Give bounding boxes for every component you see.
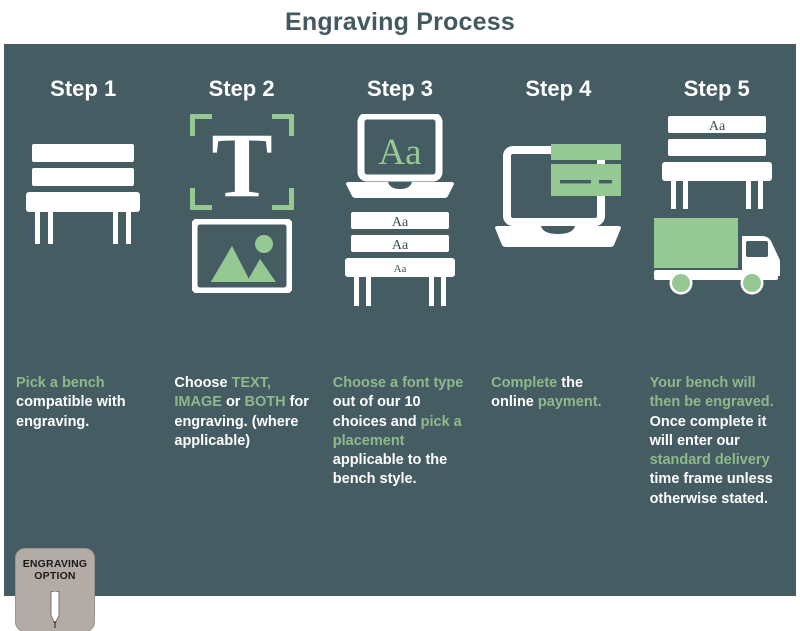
step-icons-4: [479, 114, 637, 364]
text-selection-icon: T: [190, 114, 294, 210]
desc-part-white: compatible with engraving.: [16, 394, 126, 429]
step-description-3: Choose a font type out of our 10 choices…: [333, 374, 471, 490]
step-description-4: Complete the online payment.: [491, 374, 629, 413]
step-column-1: Step 1: [4, 44, 162, 596]
badge-line-1: ENGRAVING: [16, 558, 94, 570]
step-column-5: Step 5: [638, 44, 796, 596]
step-description-1: Pick a bench compatible with engraving.: [16, 374, 154, 432]
step-column-2: Step 2 T: [162, 44, 320, 596]
steps-columns: Step 1: [4, 44, 796, 596]
bench-engraved-icon: Aa: [655, 114, 779, 210]
desc-part-green: Complete: [491, 375, 561, 391]
delivery-truck-icon: [650, 214, 784, 300]
step-heading-2: Step 2: [162, 76, 320, 106]
steps-panel: Step 1: [4, 44, 796, 596]
desc-part-green: Choose a font type: [333, 375, 464, 391]
desc-part-white: or: [226, 394, 245, 410]
step-column-4: Step 4 Complete: [479, 44, 637, 596]
step-description-2: Choose TEXT, IMAGE or BOTH for engraving…: [174, 374, 312, 451]
step-icons-2: T: [162, 114, 320, 364]
infographic-page: Engraving Process Step 1: [0, 0, 800, 600]
bench-icon: [18, 142, 148, 247]
step-description-5: Your bench will then be engraved. Once c…: [650, 374, 788, 509]
laptop-screen-text: Aa: [378, 132, 421, 173]
step-heading-5: Step 5: [638, 76, 796, 106]
engraving-tool-icon: [46, 591, 64, 629]
page-title-bar: Engraving Process: [0, 0, 800, 44]
step-icons-1: [4, 114, 162, 364]
text-icon-letter: T: [211, 114, 272, 210]
bench-seat-text: Aa: [394, 263, 407, 275]
desc-part-green: payment.: [538, 394, 602, 410]
desc-part-white: time frame unless otherwise stated.: [650, 471, 773, 506]
step-heading-4: Step 4: [479, 76, 637, 106]
desc-part-green: Your bench will then be engraved.: [650, 375, 774, 410]
page-title: Engraving Process: [285, 8, 515, 37]
laptop-font-icon: Aa: [344, 114, 456, 200]
desc-part-white: Once complete it will enter our: [650, 414, 767, 449]
desc-part-green: BOTH: [244, 394, 289, 410]
desc-part-white: Choose: [174, 375, 231, 391]
image-placeholder-icon: [192, 219, 292, 293]
step-column-3: Step 3 Aa: [321, 44, 479, 596]
badge-line-2: OPTION: [16, 570, 94, 582]
desc-part-white: out of our 10 choices and: [333, 394, 421, 429]
bench-placement-icon: Aa Aa Aa: [338, 210, 462, 308]
desc-part-green: standard delivery: [650, 452, 770, 468]
bench-slat-text-top: Aa: [392, 215, 409, 230]
credit-card-icon: [551, 144, 621, 196]
bench-engraved-text: Aa: [709, 119, 726, 134]
bench-slat-text-middle: Aa: [392, 238, 409, 253]
step-icons-3: Aa: [321, 114, 479, 364]
engraving-option-badge: ENGRAVING OPTION: [16, 549, 94, 631]
step-heading-1: Step 1: [4, 76, 162, 106]
badge-label: ENGRAVING OPTION: [16, 558, 94, 582]
step-icons-5: Aa: [638, 114, 796, 364]
desc-part-white: applicable to the bench style.: [333, 452, 447, 487]
step-heading-3: Step 3: [321, 76, 479, 106]
desc-part-green: Pick a bench: [16, 375, 105, 391]
laptop-payment-icon: [493, 142, 623, 250]
